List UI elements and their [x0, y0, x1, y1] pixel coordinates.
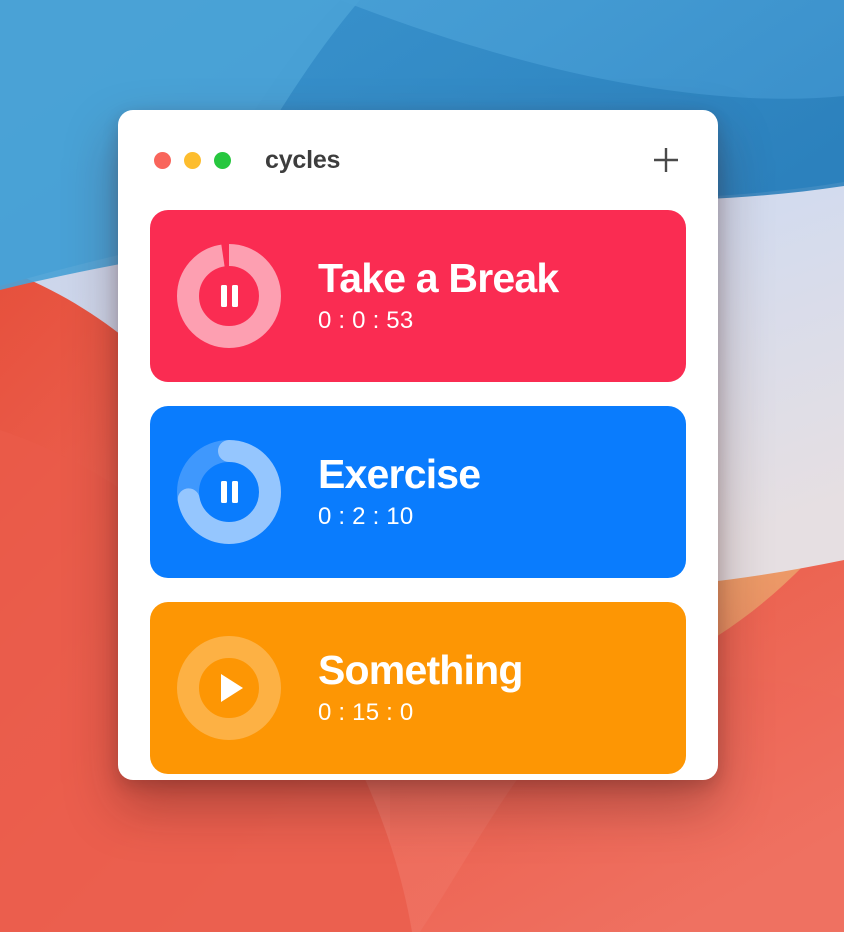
window-title: cycles [265, 146, 340, 175]
timer-title: Take a Break [318, 257, 558, 300]
timer-remaining-time: 0 : 2 : 10 [318, 503, 480, 531]
progress-ring-exercise[interactable] [176, 439, 282, 545]
timer-card-something[interactable]: Something 0 : 15 : 0 [150, 602, 686, 774]
window-titlebar[interactable]: cycles [118, 110, 718, 210]
timer-title: Something [318, 649, 523, 692]
desktop-background: cycles [0, 0, 844, 932]
app-window: cycles [118, 110, 718, 780]
plus-icon [651, 145, 681, 175]
timer-remaining-time: 0 : 0 : 53 [318, 307, 558, 335]
minimize-window-button[interactable] [184, 152, 201, 169]
timer-info: Exercise 0 : 2 : 10 [318, 453, 480, 531]
progress-ring-take-a-break[interactable] [176, 243, 282, 349]
add-timer-button[interactable] [646, 140, 686, 180]
zoom-window-button[interactable] [214, 152, 231, 169]
traffic-light-group [154, 152, 231, 169]
timer-card-exercise[interactable]: Exercise 0 : 2 : 10 [150, 406, 686, 578]
close-window-button[interactable] [154, 152, 171, 169]
timer-title: Exercise [318, 453, 480, 496]
timer-list: Take a Break 0 : 0 : 53 Ex [118, 210, 718, 780]
timer-info: Take a Break 0 : 0 : 53 [318, 257, 558, 335]
timer-card-take-a-break[interactable]: Take a Break 0 : 0 : 53 [150, 210, 686, 382]
timer-remaining-time: 0 : 15 : 0 [318, 699, 523, 727]
timer-info: Something 0 : 15 : 0 [318, 649, 523, 727]
progress-ring-something[interactable] [176, 635, 282, 741]
